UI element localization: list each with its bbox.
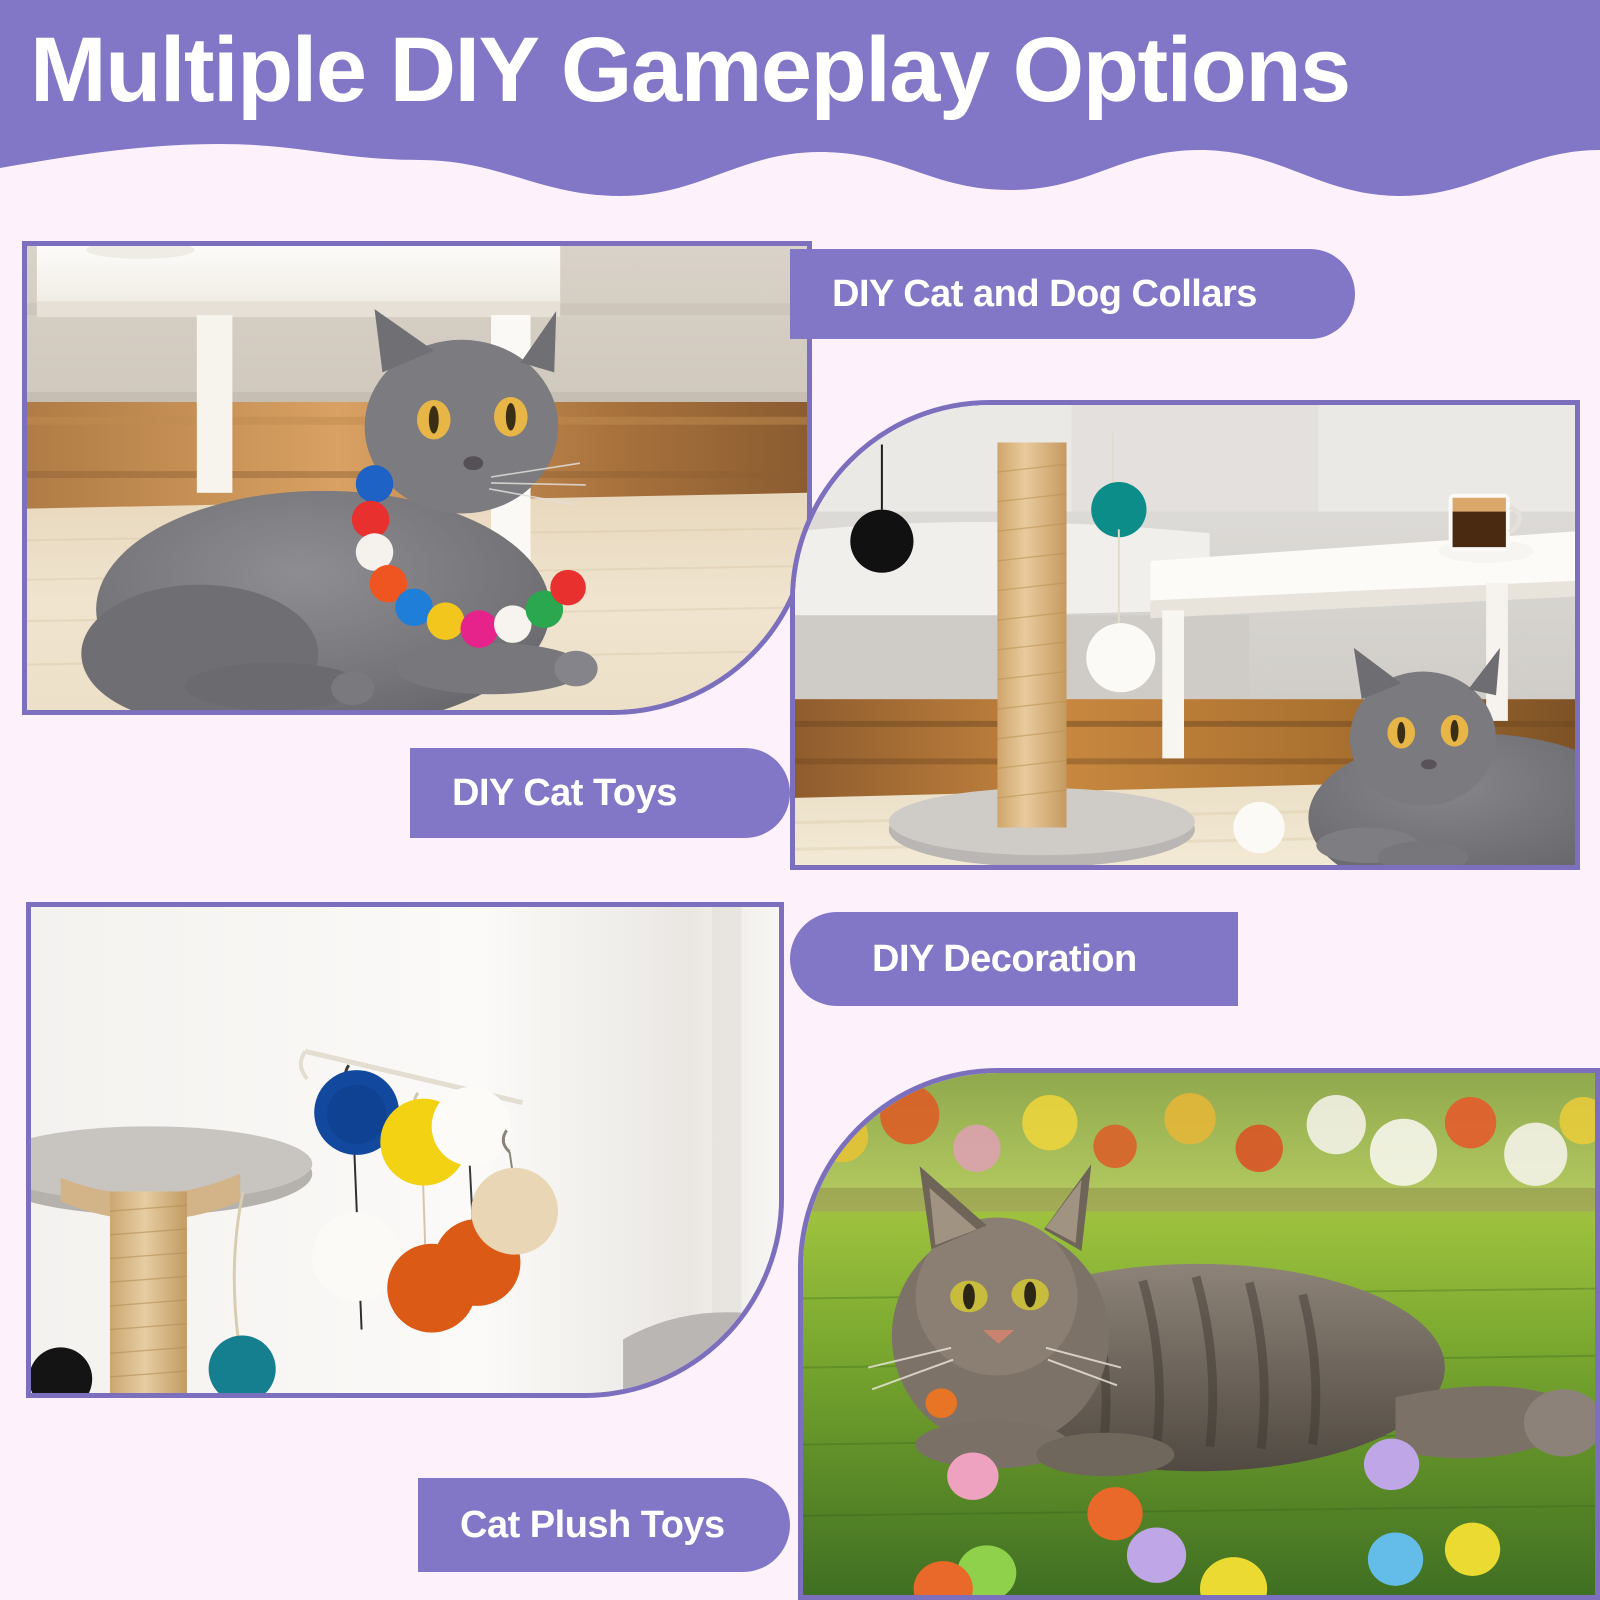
label-text-decoration: DIY Decoration: [872, 938, 1137, 981]
panel-cat-toys-photo: [790, 400, 1580, 870]
label-text-plush-toys: Cat Plush Toys: [460, 1504, 725, 1547]
label-pill-collars[interactable]: DIY Cat and Dog Collars: [790, 249, 1355, 339]
label-pill-plush-toys[interactable]: Cat Plush Toys: [418, 1478, 790, 1572]
photo-maine-coon-on-grass-with-balls: [803, 1073, 1595, 1595]
header-band: Multiple DIY Gameplay Options: [0, 0, 1600, 215]
label-pill-decoration[interactable]: DIY Decoration: [790, 912, 1238, 1006]
photo-scratching-post-with-pompoms: [795, 405, 1575, 865]
photo-wall-hanging-pompoms: [31, 907, 779, 1393]
panel-collars-photo: [22, 241, 812, 715]
panel-decoration-photo: [26, 902, 784, 1398]
label-pill-cat-toys[interactable]: DIY Cat Toys: [410, 748, 790, 838]
photo-cat-with-pompom-collar: [27, 246, 807, 710]
label-text-collars: DIY Cat and Dog Collars: [832, 273, 1257, 316]
label-text-cat-toys: DIY Cat Toys: [452, 772, 677, 815]
panel-plush-toys-photo: [798, 1068, 1600, 1600]
page-title: Multiple DIY Gameplay Options: [30, 24, 1600, 116]
